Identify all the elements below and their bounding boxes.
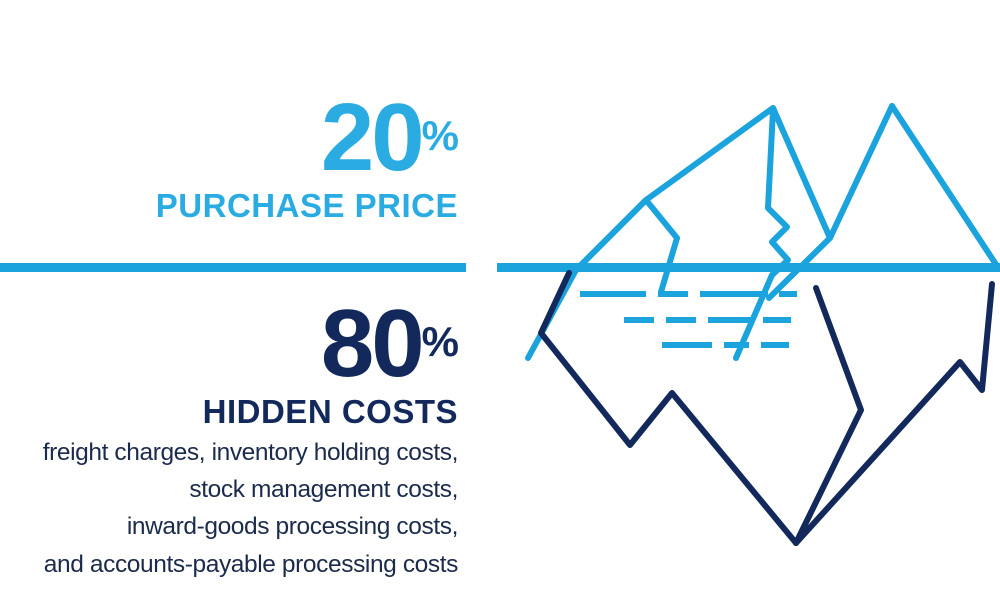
above-water-percent-symbol: % [422,112,458,159]
water-line-left [0,263,466,272]
above-water-label: PURCHASE PRICE [0,187,458,225]
hidden-costs-line-2: stock management costs, [0,474,458,505]
iceberg-left-ridge [576,200,677,270]
submerged-hatch-dashes [580,294,797,345]
below-water-number: 80 [321,290,422,397]
above-water-number: 20 [321,84,422,191]
below-water-number-row: 80% [0,298,458,389]
hidden-costs-line-3: inward-goods processing costs, [0,511,458,542]
below-water-label: HIDDEN COSTS [0,393,458,431]
above-water-stat: 20% PURCHASE PRICE [0,92,470,225]
iceberg-inner-notch-left [661,238,677,292]
above-water-number-row: 20% [0,92,458,183]
hidden-costs-line-1: freight charges, inventory holding costs… [0,437,458,468]
hidden-costs-line-4: and accounts-payable processing costs [0,549,458,580]
text-column: 20% PURCHASE PRICE 80% HIDDEN COSTS frei… [0,0,470,600]
iceberg-right-slope [892,106,999,269]
infographic-canvas: 20% PURCHASE PRICE 80% HIDDEN COSTS frei… [0,0,1000,600]
iceberg-illustration [500,90,1000,560]
below-water-stat: 80% HIDDEN COSTS freight charges, invent… [0,298,470,580]
below-water-percent-symbol: % [422,318,458,365]
iceberg-submerged-mass [541,273,992,543]
iceberg-submerged-right-outline [796,284,992,543]
